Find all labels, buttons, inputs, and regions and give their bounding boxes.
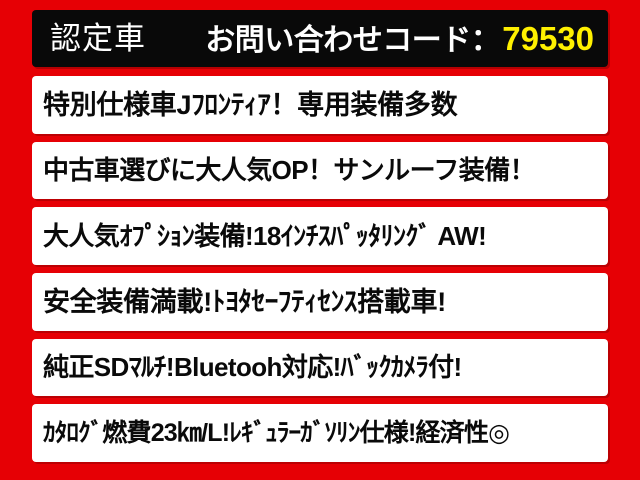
feature-text: 大人気ｵﾌﾟｼｮﾝ装備!18ｲﾝﾁｽﾊﾟｯﾀﾘﾝｸﾞ AW! — [43, 223, 486, 250]
feature-text: 安全装備満載!ﾄﾖﾀｾｰﾌﾃｨｾﾝｽ搭載車! — [43, 288, 446, 316]
inquiry-code-value: 79530 — [502, 22, 594, 55]
inquiry-code-label: お問い合わせコード： — [205, 26, 500, 56]
certified-vehicle-label: 認定車 — [50, 23, 146, 54]
feature-row: 大人気ｵﾌﾟｼｮﾝ装備!18ｲﾝﾁｽﾊﾟｯﾀﾘﾝｸﾞ AW! — [32, 207, 608, 265]
feature-text: 純正SDﾏﾙﾁ!Bluetooh対応!ﾊﾞｯｸｶﾒﾗ付! — [43, 354, 462, 381]
feature-row: 中古車選びに大人気OP！サンルーフ装備！ — [32, 142, 608, 200]
feature-row: 安全装備満載!ﾄﾖﾀｾｰﾌﾃｨｾﾝｽ搭載車! — [32, 273, 608, 331]
feature-list: 特別仕様車Jﾌﾛﾝﾃｨｱ！専用装備多数 中古車選びに大人気OP！サンルーフ装備！… — [32, 76, 608, 462]
feature-row: 特別仕様車Jﾌﾛﾝﾃｨｱ！専用装備多数 — [32, 76, 608, 134]
header-bar: 認定車 お問い合わせコード： 79530 — [32, 10, 608, 67]
feature-row: 純正SDﾏﾙﾁ!Bluetooh対応!ﾊﾞｯｸｶﾒﾗ付! — [32, 339, 608, 397]
feature-text: 特別仕様車Jﾌﾛﾝﾃｨｱ！専用装備多数 — [43, 91, 457, 119]
feature-row: ｶﾀﾛｸﾞ燃費23㎞/L!ﾚｷﾞｭﾗｰｶﾞｿﾘﾝ仕様!経済性◎ — [32, 404, 608, 462]
vehicle-promo-banner: 認定車 お問い合わせコード： 79530 特別仕様車Jﾌﾛﾝﾃｨｱ！専用装備多数… — [0, 0, 640, 480]
feature-text: 中古車選びに大人気OP！サンルーフ装備！ — [43, 157, 535, 184]
feature-text: ｶﾀﾛｸﾞ燃費23㎞/L!ﾚｷﾞｭﾗｰｶﾞｿﾘﾝ仕様!経済性◎ — [43, 420, 509, 446]
inquiry-code-group: お問い合わせコード： 79530 — [205, 22, 594, 56]
